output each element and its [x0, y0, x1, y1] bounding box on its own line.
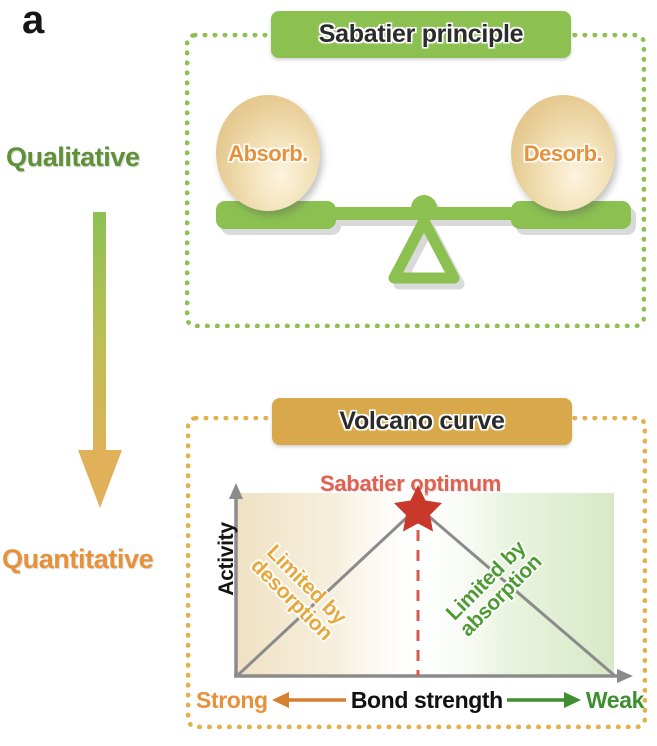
figure-panel-a: a Qualitative Quantitative Sabatier prin… — [0, 0, 657, 746]
ball-label-desorb: Desorb. — [511, 141, 615, 167]
right-arrow-icon — [505, 689, 583, 711]
x-axis-label-bond-strength: Bond strength — [351, 687, 503, 714]
title-sabatier-text: Sabatier principle — [319, 20, 523, 49]
stage-label-quantitative: Quantitative — [2, 544, 153, 575]
title-chip-sabatier-principle: Sabatier principle — [271, 11, 571, 58]
title-volcano-text: Volcano curve — [339, 407, 504, 436]
left-arrow-icon — [270, 689, 348, 711]
title-chip-volcano-curve: Volcano curve — [272, 398, 572, 445]
balance-ball-desorb: Desorb. — [511, 95, 615, 211]
ball-label-absorb: Absorb. — [216, 141, 320, 167]
balance-scale-illustration: Absorb. Desorb. — [186, 75, 646, 290]
x-axis-label-strong: Strong — [196, 687, 268, 714]
panel-label: a — [22, 0, 43, 43]
downward-gradient-arrow-icon — [70, 212, 130, 512]
stage-label-qualitative: Qualitative — [6, 142, 140, 173]
y-axis-label-activity: Activity — [215, 504, 239, 614]
x-axis-caption: Strong Bond strength Weak — [196, 682, 644, 718]
x-axis-label-weak: Weak — [586, 687, 644, 714]
balance-ball-absorb: Absorb. — [216, 95, 320, 211]
